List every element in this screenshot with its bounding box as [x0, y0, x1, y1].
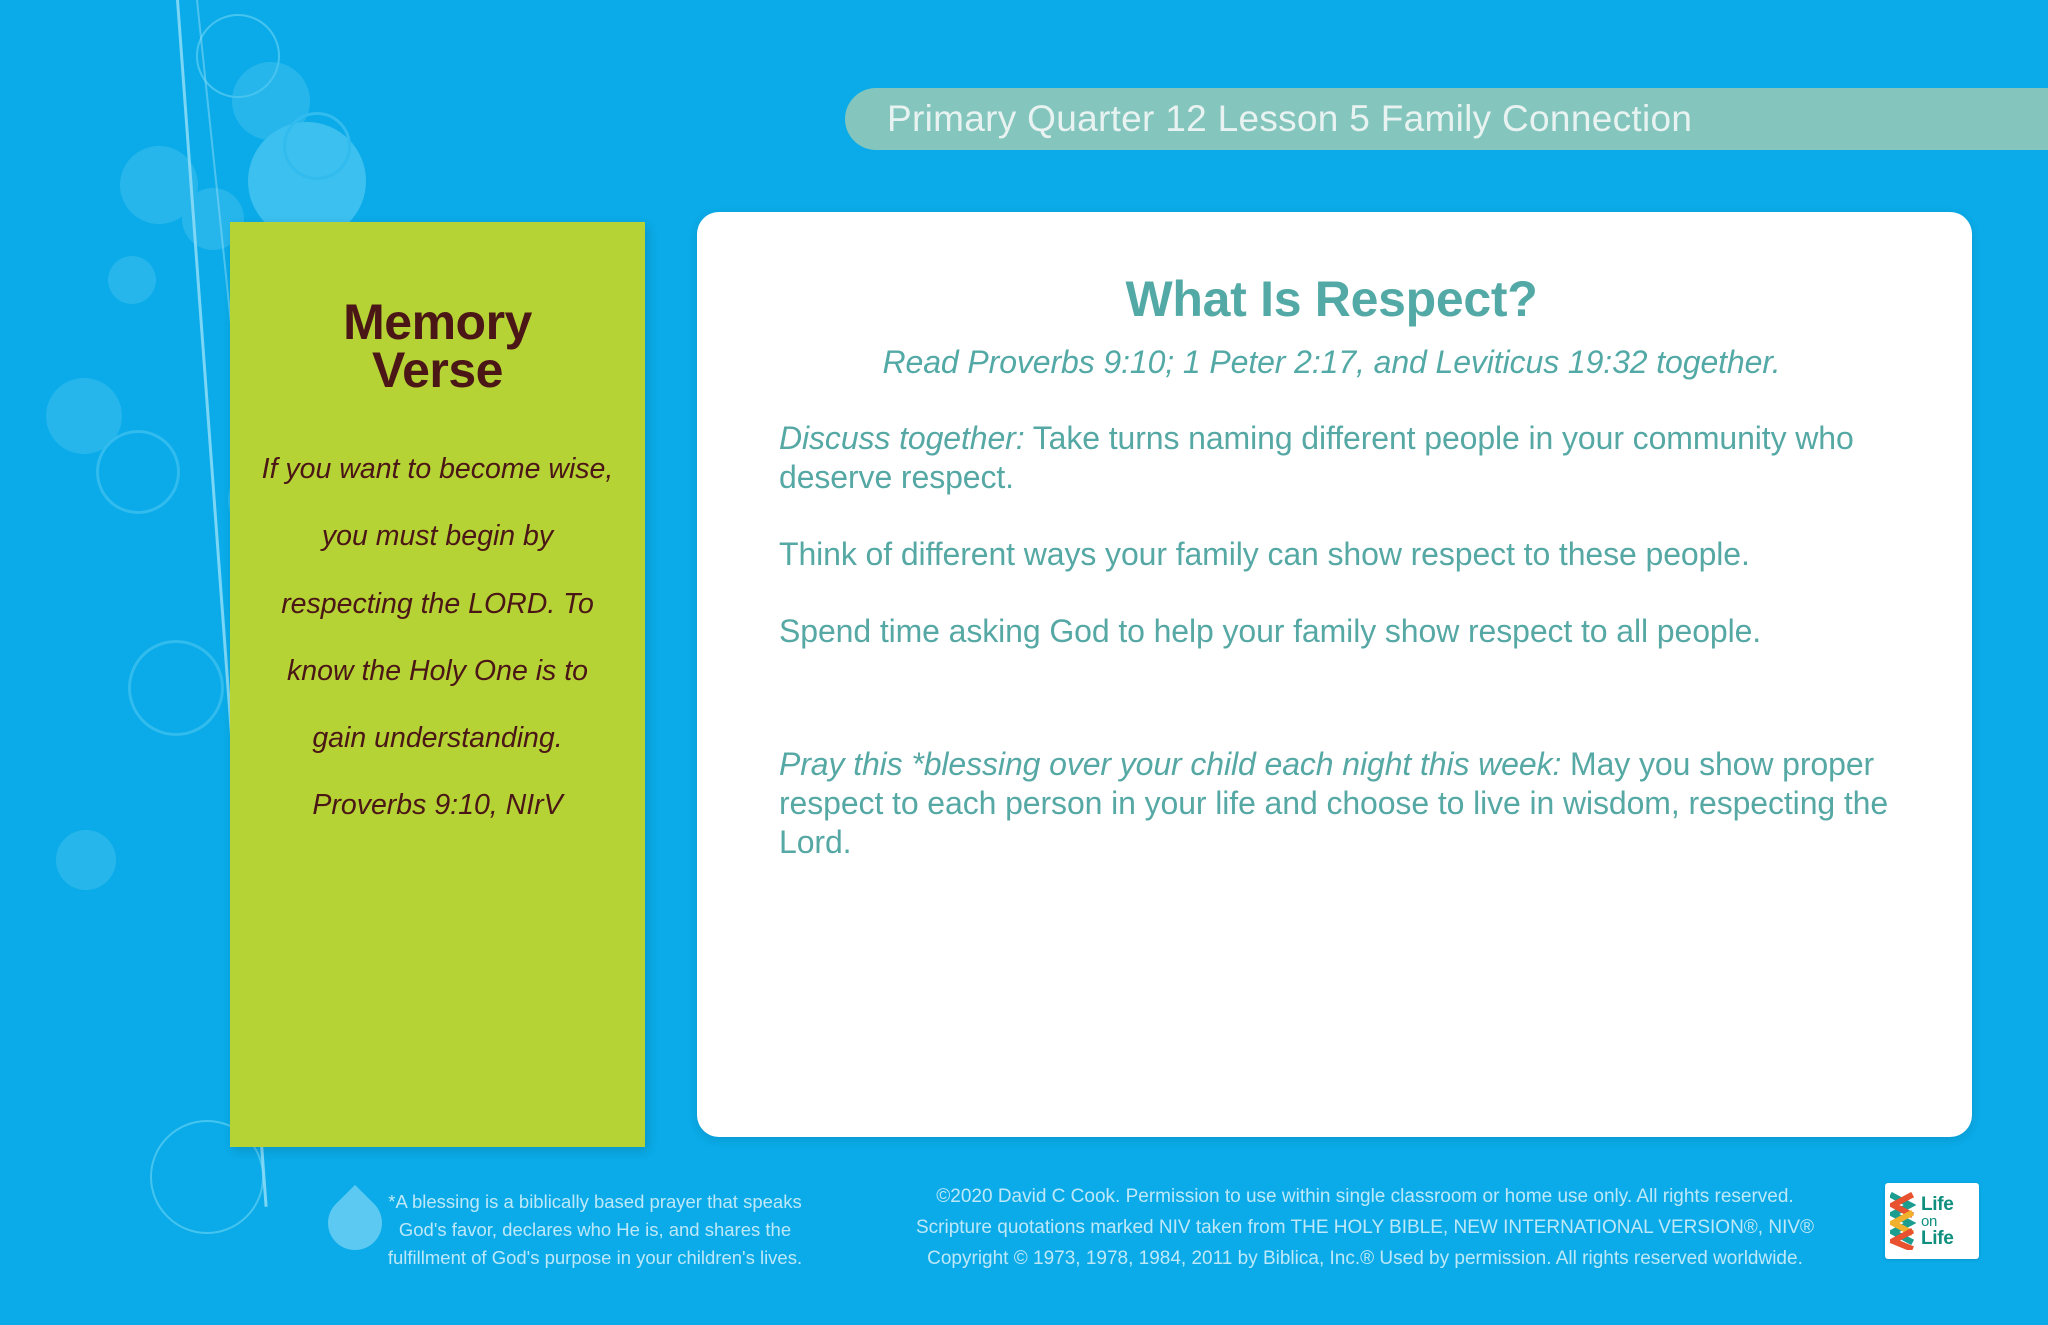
blessing-footnote: *A blessing is a biblically based prayer… — [380, 1188, 810, 1272]
paragraph-think: Think of different ways your family can … — [779, 535, 1906, 574]
paragraph-blessing: Pray this *blessing over your child each… — [779, 745, 1906, 862]
copyright-line-1: ©2020 David C Cook. Permission to use wi… — [900, 1182, 1830, 1213]
bubble-decoration — [283, 112, 351, 180]
memory-verse-heading-line1: Memory — [343, 298, 532, 346]
paragraph-think-body: Think of different ways your family can … — [779, 536, 1750, 572]
paragraph-blessing-lead: Pray this *blessing over your child each… — [779, 746, 1561, 782]
paragraph-discuss: Discuss together: Take turns naming diff… — [779, 419, 1906, 497]
bubble-decoration — [196, 14, 280, 98]
ribbon-logo-icon — [1890, 1192, 1916, 1250]
memory-verse-reference: Proverbs 9:10, NIrV — [312, 776, 562, 836]
copyright-block: ©2020 David C Cook. Permission to use wi… — [900, 1182, 1830, 1274]
logo-wordmark: Life on Life — [1921, 1195, 1954, 1248]
header-banner: Primary Quarter 12 Lesson 5 Family Conne… — [845, 88, 2048, 150]
logo-line-3: Life — [1921, 1229, 1954, 1248]
bubble-decoration — [108, 256, 156, 304]
memory-verse-text: If you want to become wise, you must beg… — [260, 436, 615, 772]
logo-line-2: on — [1921, 1214, 1954, 1229]
paragraph-spacer — [757, 651, 1906, 707]
copyright-line-2: Scripture quotations marked NIV taken fr… — [900, 1213, 1830, 1244]
bubble-decoration — [56, 830, 116, 890]
paragraph-discuss-lead: Discuss together: — [779, 420, 1025, 456]
poster-page: Primary Quarter 12 Lesson 5 Family Conne… — [0, 0, 2048, 1325]
page-title: What Is Respect? — [757, 270, 1906, 328]
content-card: What Is Respect? Read Proverbs 9:10; 1 P… — [697, 212, 1972, 1137]
scripture-reading-line: Read Proverbs 9:10; 1 Peter 2:17, and Le… — [757, 344, 1906, 381]
memory-verse-panel: Memory Verse If you want to become wise,… — [230, 222, 645, 1147]
memory-verse-heading: Memory Verse — [343, 298, 532, 394]
bubble-decoration — [128, 640, 224, 736]
header-banner-title: Primary Quarter 12 Lesson 5 Family Conne… — [845, 98, 1692, 140]
paragraph-spend-time: Spend time asking God to help your famil… — [779, 612, 1906, 651]
life-on-life-logo: Life on Life — [1885, 1183, 1979, 1259]
bubble-decoration — [96, 430, 180, 514]
logo-line-1: Life — [1921, 1195, 1954, 1214]
paragraph-spend-time-body: Spend time asking God to help your famil… — [779, 613, 1761, 649]
copyright-line-3: Copyright © 1973, 1978, 1984, 2011 by Bi… — [900, 1244, 1830, 1275]
memory-verse-heading-line2: Verse — [343, 346, 532, 394]
